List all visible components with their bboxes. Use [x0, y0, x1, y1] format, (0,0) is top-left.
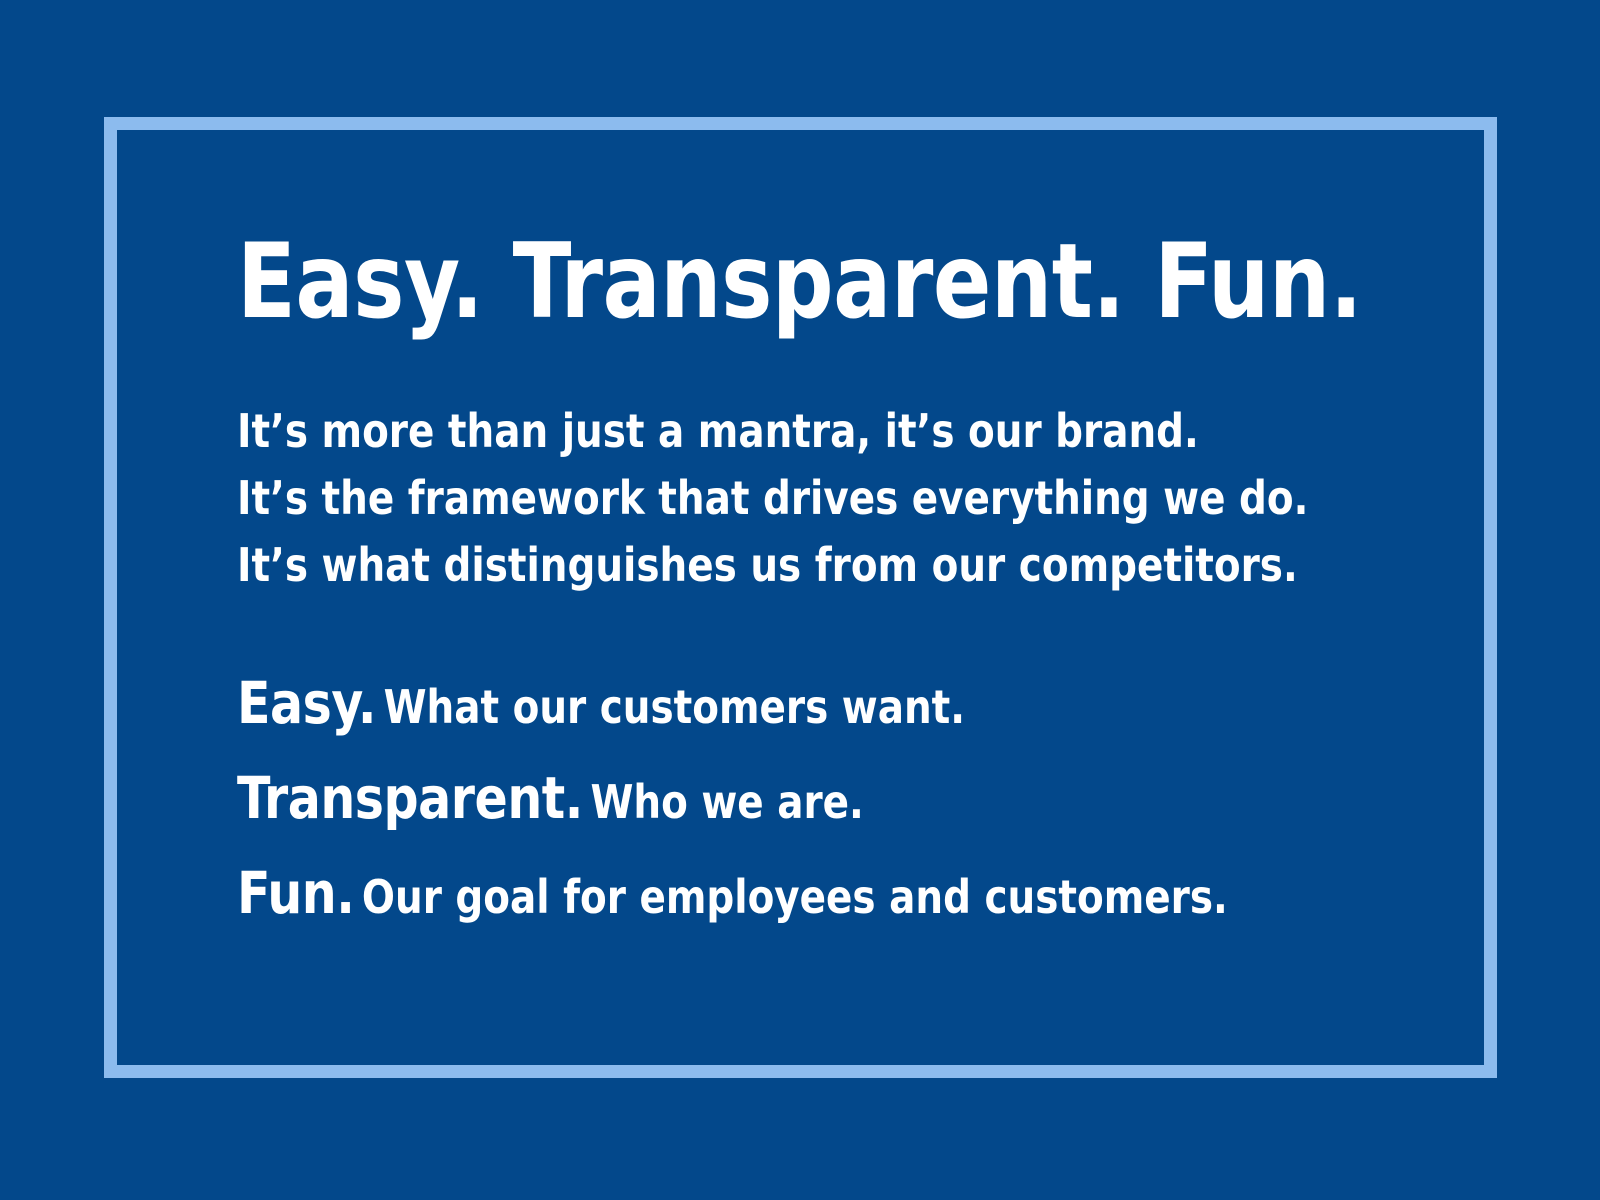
definition-description-transparent: Who we are.	[583, 775, 864, 829]
definition-item-easy: Easy.What our customers want.	[237, 663, 1365, 758]
page-title: Easy. Transparent. Fun.	[237, 231, 1353, 334]
definition-list: Easy.What our customers want. Transparen…	[237, 599, 1437, 948]
slide-canvas: Easy. Transparent. Fun. It’s more than j…	[0, 0, 1600, 1200]
definition-term-transparent: Transparent.	[237, 764, 583, 832]
intro-line-2: It’s the framework that drives everythin…	[237, 465, 1365, 532]
definition-description-easy: What our customers want.	[376, 680, 965, 734]
slide-content: Easy. Transparent. Fun. It’s more than j…	[237, 231, 1437, 948]
definition-item-fun: Fun.Our goal for employees and customers…	[237, 853, 1365, 948]
intro-paragraph: It’s more than just a mantra, it’s our b…	[237, 334, 1437, 599]
intro-line-3: It’s what distinguishes us from our comp…	[237, 532, 1365, 599]
definition-term-easy: Easy.	[237, 669, 376, 737]
definition-description-fun: Our goal for employees and customers.	[354, 870, 1227, 924]
definition-item-transparent: Transparent.Who we are.	[237, 758, 1365, 853]
definition-term-fun: Fun.	[237, 859, 354, 927]
intro-line-1: It’s more than just a mantra, it’s our b…	[237, 398, 1365, 465]
